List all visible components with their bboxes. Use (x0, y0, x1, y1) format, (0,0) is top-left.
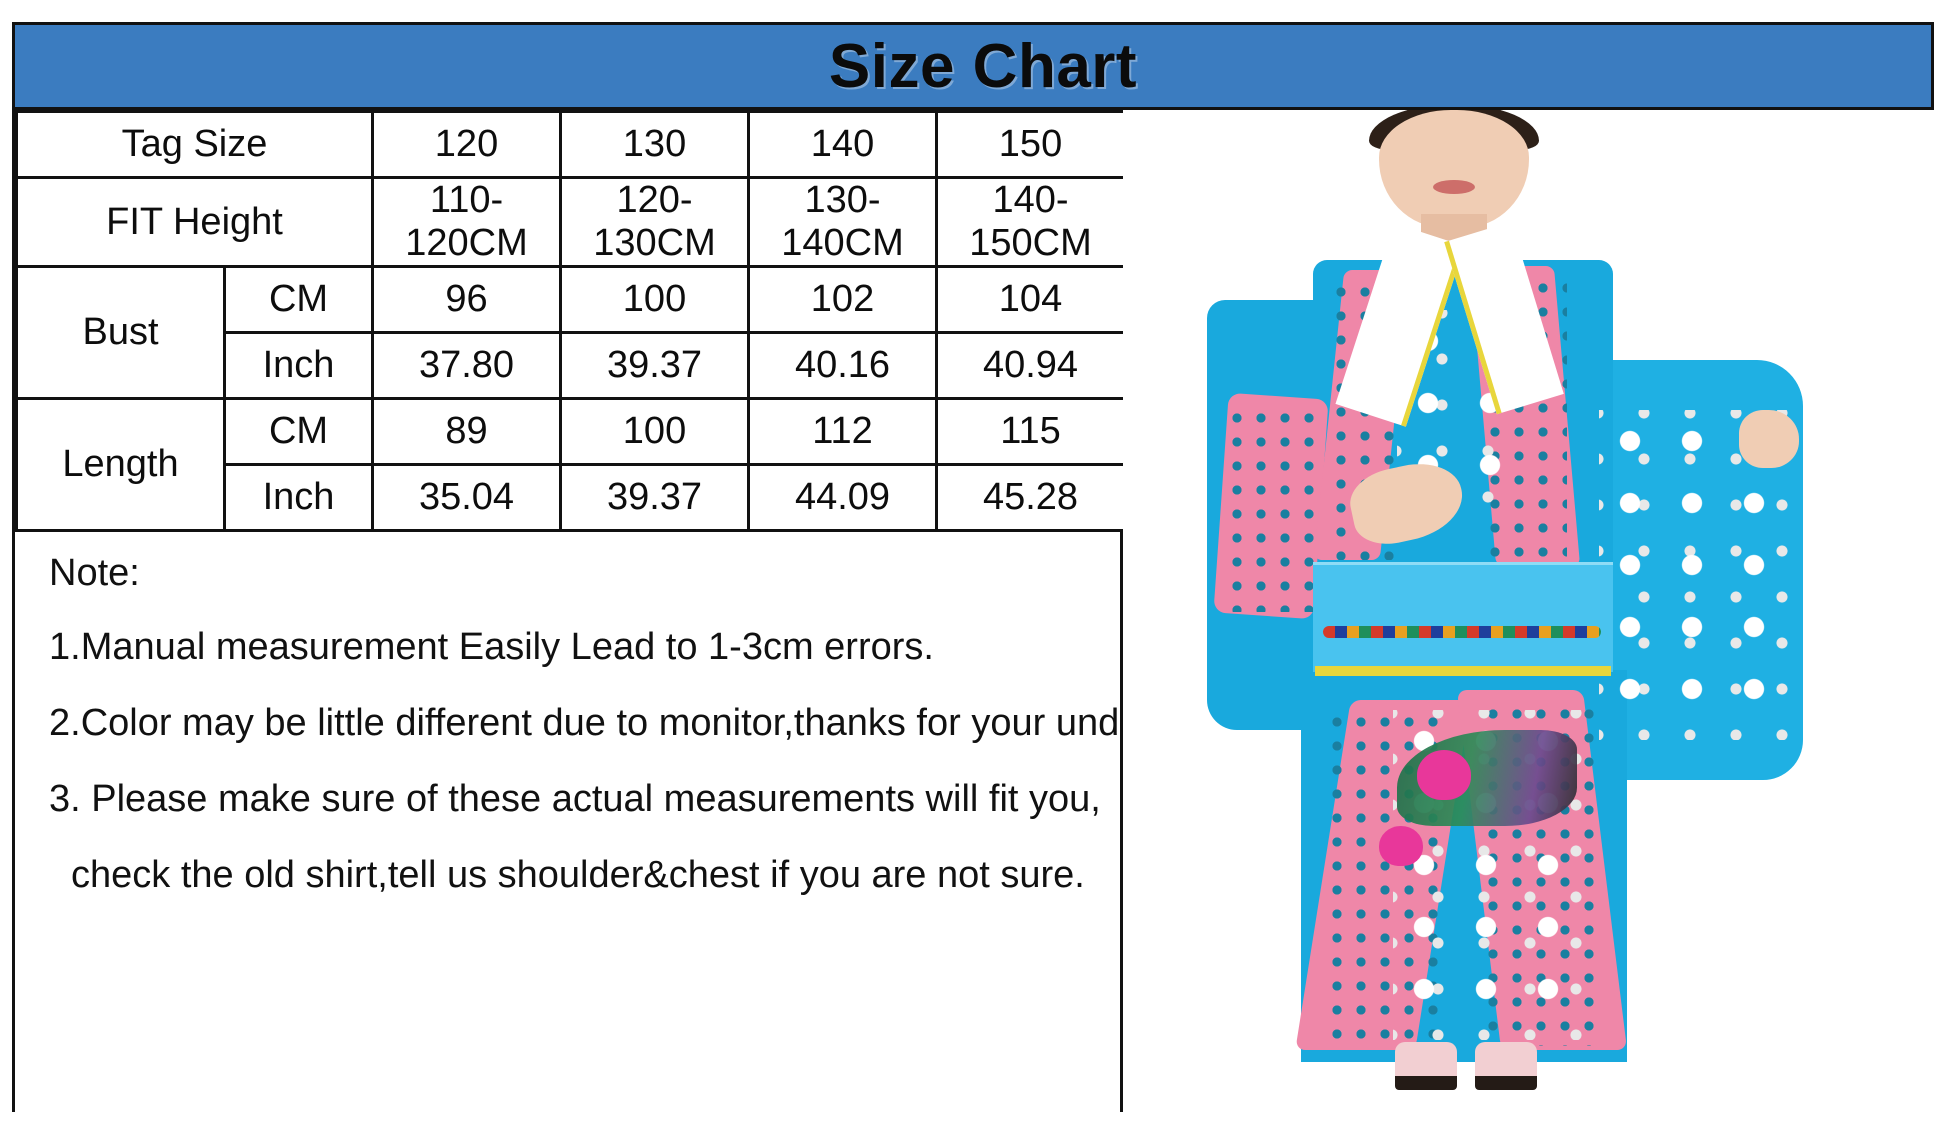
kimono-pink-flower (1379, 826, 1423, 866)
length-cm-130: 100 (561, 399, 749, 465)
length-inch-120: 35.04 (373, 465, 561, 531)
notes-heading: Note: (49, 554, 1120, 592)
kimono-obi-tie (1315, 666, 1611, 676)
note-line-3: 3. Please make sure of these actual meas… (49, 780, 1120, 818)
kimono-pink-flower (1417, 750, 1471, 800)
product-photo (1123, 110, 1946, 1112)
bust-inch-120: 37.80 (373, 333, 561, 399)
fit-height-150: 140-150CM (937, 178, 1125, 267)
bust-inch-140: 40.16 (749, 333, 937, 399)
note-line-1: 1.Manual measurement Easily Lead to 1-3c… (49, 628, 1120, 666)
chart-frame: Size Chart Tag Size 120 130 140 150 (12, 22, 1934, 1112)
table-row-bust-cm: Bust CM 96 100 102 104 (17, 267, 1125, 333)
length-inch-140: 44.09 (749, 465, 937, 531)
size-chart-page: Size Chart Tag Size 120 130 140 150 (0, 0, 1946, 1133)
note-line-4: check the old shirt,tell us shoulder&che… (49, 856, 1120, 894)
length-inch-130: 39.37 (561, 465, 749, 531)
product-photo-panel (1123, 110, 1946, 1112)
table-and-notes-panel: Tag Size 120 130 140 150 FIT Height 110-… (15, 110, 1123, 1112)
kimono-model-illustration (1183, 110, 1743, 1112)
length-cm-140: 112 (749, 399, 937, 465)
kimono-peacock-dots (1225, 406, 1319, 612)
bust-unit-cm: CM (225, 267, 373, 333)
kimono-obi-belt (1313, 562, 1613, 672)
bust-unit-inch: Inch (225, 333, 373, 399)
bust-cm-150: 104 (937, 267, 1125, 333)
length-label: Length (17, 399, 225, 531)
table-row-fit-height: FIT Height 110-120CM 120-130CM 130-140CM… (17, 178, 1125, 267)
bust-cm-120: 96 (373, 267, 561, 333)
length-cm-120: 89 (373, 399, 561, 465)
table-row-tag-size: Tag Size 120 130 140 150 (17, 112, 1125, 178)
title-bar: Size Chart (15, 25, 1931, 110)
model-sandal-left (1395, 1042, 1457, 1090)
fit-height-120: 110-120CM (373, 178, 561, 267)
length-inch-150: 45.28 (937, 465, 1125, 531)
tag-size-140: 140 (749, 112, 937, 178)
model-sandal-right (1475, 1042, 1537, 1090)
tag-size-130: 130 (561, 112, 749, 178)
model-lips (1433, 180, 1475, 194)
page-title: Size Chart (829, 31, 1137, 102)
tag-size-120: 120 (373, 112, 561, 178)
model-hand (1739, 410, 1799, 468)
bust-inch-150: 40.94 (937, 333, 1125, 399)
kimono-obi-cord (1323, 626, 1601, 638)
length-cm-150: 115 (937, 399, 1125, 465)
note-line-2: 2.Color may be little different due to m… (49, 704, 1120, 742)
fit-height-140: 130-140CM (749, 178, 937, 267)
bust-cm-130: 100 (561, 267, 749, 333)
notes-section: Note: 1.Manual measurement Easily Lead t… (15, 532, 1120, 894)
length-unit-inch: Inch (225, 465, 373, 531)
fit-height-label: FIT Height (17, 178, 373, 267)
table-row-length-cm: Length CM 89 100 112 115 (17, 399, 1125, 465)
fit-height-130: 120-130CM (561, 178, 749, 267)
bust-cm-140: 102 (749, 267, 937, 333)
size-table: Tag Size 120 130 140 150 FIT Height 110-… (15, 110, 1126, 532)
bust-inch-130: 39.37 (561, 333, 749, 399)
model-head (1379, 110, 1529, 228)
tag-size-150: 150 (937, 112, 1125, 178)
length-unit-cm: CM (225, 399, 373, 465)
bust-label: Bust (17, 267, 225, 399)
tag-size-label: Tag Size (17, 112, 373, 178)
